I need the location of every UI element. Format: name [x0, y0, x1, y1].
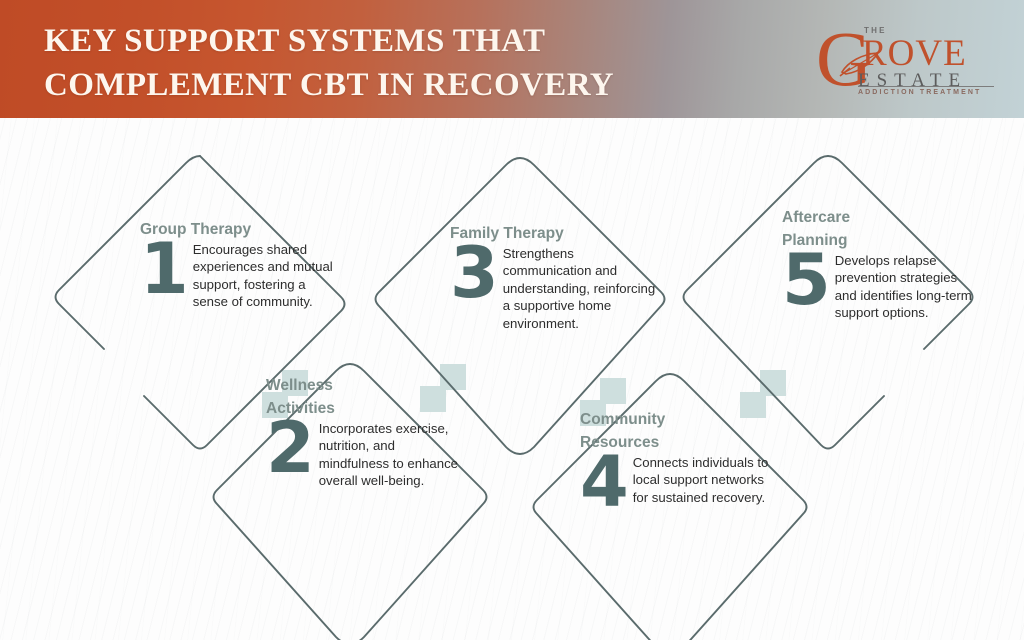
card-1-number: 1	[140, 237, 187, 301]
card-4-body: 4 Connects individuals to local support …	[580, 454, 780, 514]
logo-divider	[858, 86, 994, 87]
infographic-canvas: KEY SUPPORT SYSTEMS THAT COMPLEMENT CBT …	[0, 0, 1024, 640]
card-5-content: Aftercare Planning 5 Develops relapse pr…	[782, 206, 972, 322]
card-4-number: 4	[580, 450, 627, 514]
header-banner: KEY SUPPORT SYSTEMS THAT COMPLEMENT CBT …	[0, 0, 1024, 118]
leaf-icon	[838, 50, 882, 78]
page-title: KEY SUPPORT SYSTEMS THAT COMPLEMENT CBT …	[44, 19, 744, 107]
card-4-description: Connects individuals to local support ne…	[633, 454, 780, 506]
card-3-description: Strengthens communication and understand…	[503, 245, 660, 332]
card-5-number: 5	[782, 248, 829, 312]
card-3-content: Family Therapy 3 Strengthens communicati…	[450, 222, 660, 332]
card-3-number: 3	[450, 241, 497, 305]
card-5-body: 5 Develops relapse prevention strategies…	[782, 252, 972, 322]
brand-logo: G THE ROVE ESTATE ADDICTION TREATMENT	[816, 22, 998, 100]
card-1-description: Encourages shared experiences and mutual…	[193, 241, 340, 311]
logo-tagline-text: ADDICTION TREATMENT	[858, 89, 981, 96]
card-1-body: 1 Encourages shared experiences and mutu…	[140, 241, 340, 311]
diamond-card-5[interactable]: Aftercare Planning 5 Develops relapse pr…	[672, 148, 984, 460]
card-5-description: Develops relapse prevention strategies a…	[835, 252, 972, 322]
card-3-body: 3 Strengthens communication and understa…	[450, 245, 660, 332]
card-1-content: Group Therapy 1 Encourages shared experi…	[140, 218, 340, 311]
card-2-number: 2	[266, 416, 313, 480]
